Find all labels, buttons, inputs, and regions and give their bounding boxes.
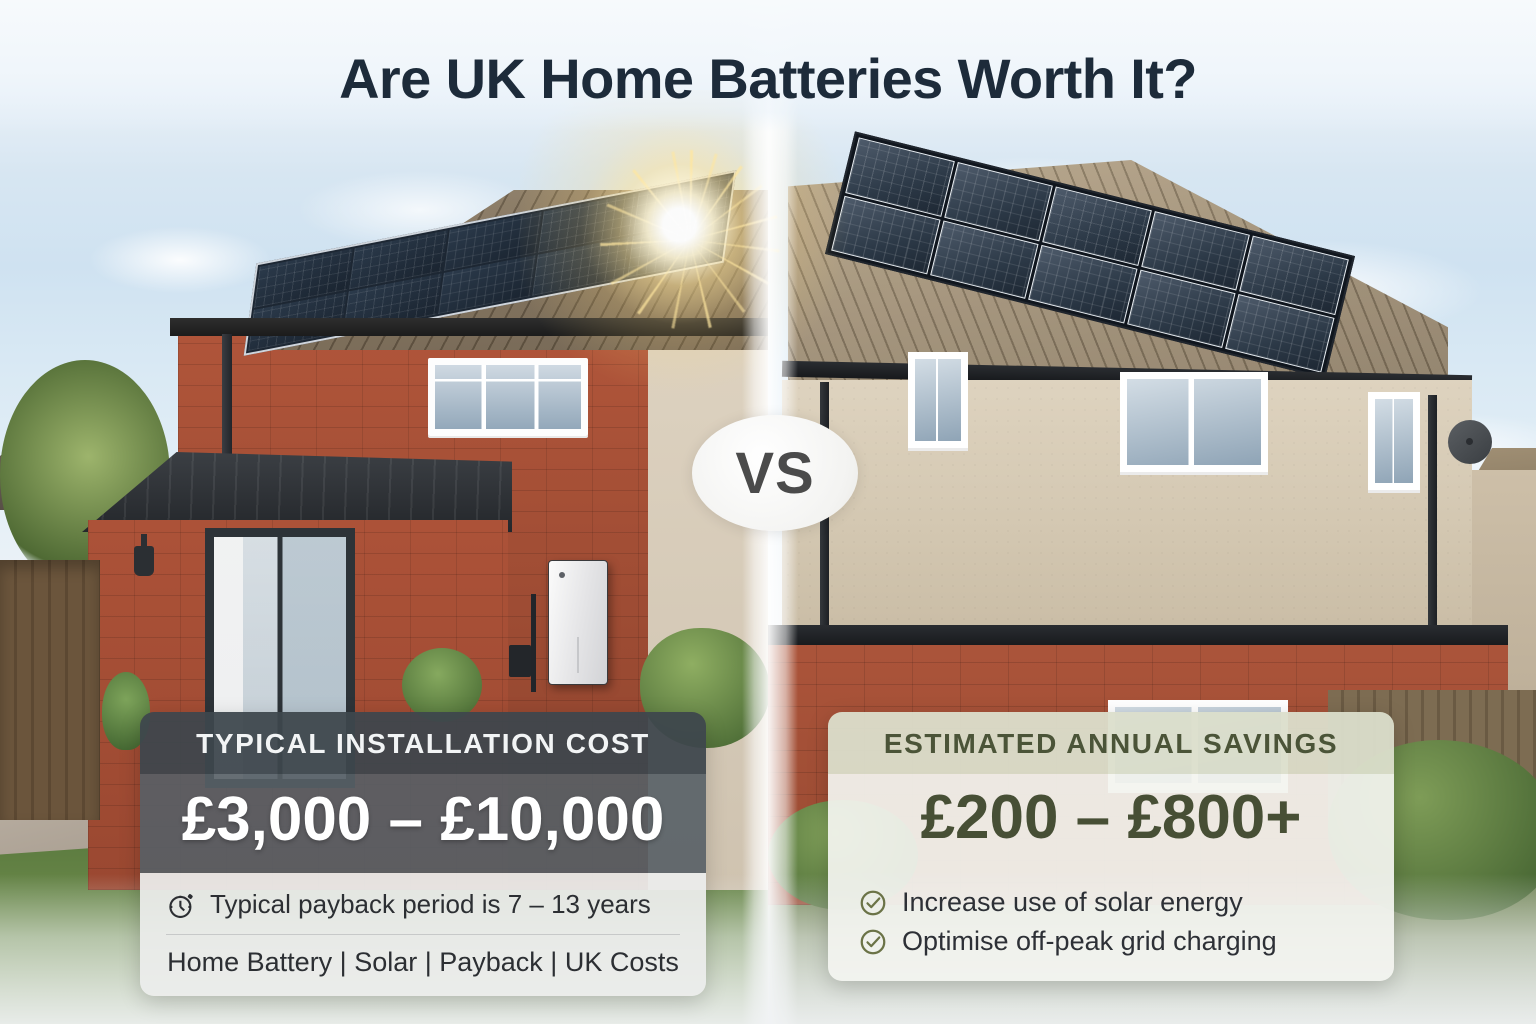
check-circle-icon: [858, 927, 888, 957]
cost-card-footer: Typical payback period is 7 – 13 years H…: [140, 873, 706, 996]
right-window-right: [1368, 392, 1420, 490]
payback-note-row: Typical payback period is 7 – 13 years: [166, 889, 680, 920]
savings-card-footer: Increase use of solar energy Optimise of…: [828, 873, 1394, 981]
cost-card-heading: TYPICAL INSTALLATION COST: [140, 712, 706, 774]
benefit-label-2: Optimise off-peak grid charging: [902, 926, 1277, 957]
vs-badge-label: VS: [735, 440, 814, 507]
right-window-centre: [1120, 372, 1268, 472]
left-fence: [0, 560, 100, 820]
cost-card-value: £3,000 – £10,000: [140, 774, 706, 873]
annual-savings-card: ESTIMATED ANNUAL SAVINGS £200 – £800+ In…: [828, 712, 1394, 981]
page-title: Are UK Home Batteries Worth It?: [0, 46, 1536, 111]
right-facade-band: [768, 625, 1508, 647]
benefit-label-1: Increase use of solar energy: [902, 887, 1243, 918]
stopwatch-icon: [166, 890, 196, 920]
payback-note-label: Typical payback period is 7 – 13 years: [210, 889, 651, 920]
check-circle-icon: [858, 888, 888, 918]
savings-card-heading: ESTIMATED ANNUAL SAVINGS: [828, 712, 1394, 774]
installation-cost-card: TYPICAL INSTALLATION COST £3,000 – £10,0…: [140, 712, 706, 996]
satellite-dish-icon: [1448, 420, 1492, 464]
home-battery-unit: [548, 560, 608, 685]
left-upper-window: [428, 358, 588, 436]
left-battery-conduit: [531, 594, 536, 692]
right-window-left: [908, 352, 968, 448]
left-wall-lamp: [134, 546, 154, 576]
infographic-canvas: VS Are UK Home Batteries Worth It? TYPIC…: [0, 0, 1536, 1024]
cost-card-tags: Home Battery | Solar | Payback | UK Cost…: [166, 947, 680, 978]
card-divider: [166, 934, 680, 935]
vs-badge: VS: [692, 415, 858, 531]
benefit-row-1: Increase use of solar energy: [858, 883, 1364, 922]
left-meter-box: [509, 645, 531, 677]
savings-card-value: £200 – £800+: [828, 774, 1394, 873]
benefit-row-2: Optimise off-peak grid charging: [858, 922, 1364, 961]
left-shrub-border: [402, 648, 482, 722]
sun-rays: [600, 150, 780, 330]
